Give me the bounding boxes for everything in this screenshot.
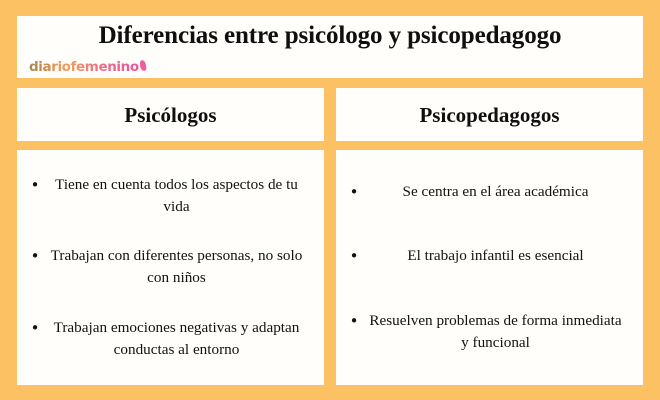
column-headings-row: Psicólogos Psicopedagogos — [17, 88, 643, 141]
list-item-text: Tiene en cuenta todos los aspectos de tu… — [43, 174, 310, 218]
list-item: • Se centra en el área académica — [346, 181, 629, 203]
brand-logo: diariofemenino — [29, 58, 146, 74]
list-item: • Trabajan con diferentes personas, no s… — [27, 245, 310, 289]
bullet-point-icon: • — [346, 310, 362, 332]
comparison-infographic: Diferencias entre psicólogo y psicopedag… — [0, 0, 660, 400]
list-item: • Tiene en cuenta todos los aspectos de … — [27, 174, 310, 218]
bullet-point-icon: • — [346, 181, 362, 203]
column-bodies-row: • Tiene en cuenta todos los aspectos de … — [17, 150, 643, 385]
column-heading-card-psicopedagogos: Psicopedagogos — [336, 88, 643, 141]
column-heading-card-psicologos: Psicólogos — [17, 88, 324, 141]
list-item-text: El trabajo infantil es esencial — [362, 245, 629, 267]
list-item-text: Resuelven problemas de forma inmediata y… — [362, 310, 629, 354]
list-item-text: Se centra en el área académica — [362, 181, 629, 203]
leaf-flourish-icon — [139, 59, 147, 71]
bullet-point-icon: • — [27, 245, 43, 267]
list-item: • Trabajan emociones negativas y adaptan… — [27, 317, 310, 361]
column-body-psicologos: • Tiene en cuenta todos los aspectos de … — [17, 150, 324, 385]
bullet-point-icon: • — [27, 174, 43, 196]
list-item-text: Trabajan con diferentes personas, no sol… — [43, 245, 310, 289]
bullet-point-icon: • — [27, 317, 43, 339]
list-item: • El trabajo infantil es esencial — [346, 245, 629, 267]
page-title: Diferencias entre psicólogo y psicopedag… — [99, 21, 562, 51]
list-item: • Resuelven problemas de forma inmediata… — [346, 310, 629, 354]
title-banner: Diferencias entre psicólogo y psicopedag… — [17, 16, 643, 78]
bullet-point-icon: • — [346, 245, 362, 267]
column-body-psicopedagogos: • Se centra en el área académica • El tr… — [336, 150, 643, 385]
column-heading-label: Psicopedagogos — [419, 103, 559, 127]
list-item-text: Trabajan emociones negativas y adaptan c… — [43, 317, 310, 361]
brand-logo-text: diariofemenino — [29, 60, 139, 74]
column-heading-label: Psicólogos — [124, 103, 216, 127]
